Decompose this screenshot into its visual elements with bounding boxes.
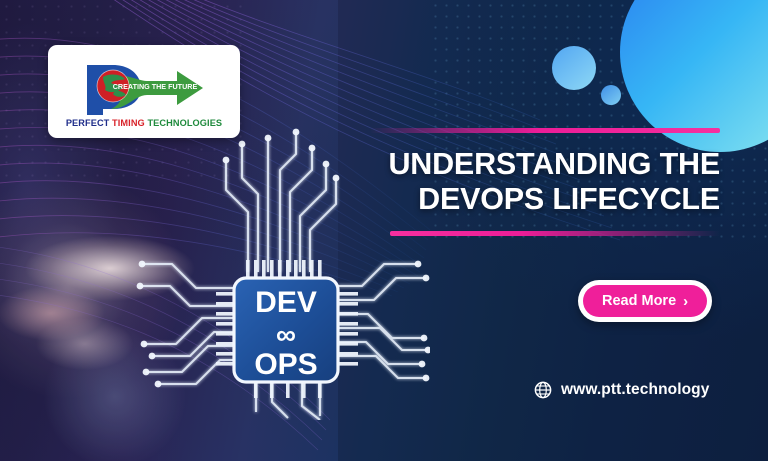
headline-rule-bottom [390, 231, 720, 236]
headline-line-1: UNDERSTANDING THE [368, 147, 720, 182]
website-url[interactable]: www.ptt.technology [561, 381, 709, 399]
read-more-button[interactable]: Read More › [583, 285, 707, 317]
website-row[interactable]: www.ptt.technology [534, 381, 709, 399]
company-logo-card: CREATING THE FUTURE PERFECT TIMING TECHN… [48, 45, 240, 138]
logo-name-word-2: TIMING [112, 118, 147, 128]
logo-company-name: PERFECT TIMING TECHNOLOGIES [66, 118, 222, 128]
logo-name-word-1: PERFECT [66, 118, 112, 128]
headline-block: UNDERSTANDING THE DEVOPS LIFECYCLE [368, 128, 720, 236]
read-more-label: Read More [602, 293, 676, 309]
logo-mark: CREATING THE FUTURE [69, 59, 219, 117]
globe-icon [534, 381, 552, 399]
chip-label-infinity: ∞ [276, 319, 296, 350]
devops-promo-banner: DEV ∞ OPS CREATING THE FUTURE PERFECT TI… [0, 0, 768, 461]
logo-name-word-3: TECHNOLOGIES [147, 118, 222, 128]
chevron-right-icon: › [683, 294, 688, 309]
headline-line-2: DEVOPS LIFECYCLE [368, 182, 720, 217]
read-more-button-ring: Read More › [578, 280, 712, 322]
chip-label-ops: OPS [254, 348, 317, 381]
logo-tagline: CREATING THE FUTURE [113, 82, 198, 91]
chip-label-dev: DEV [255, 286, 317, 319]
decorative-circle-small [601, 85, 621, 105]
decorative-circle-medium [552, 46, 596, 90]
headline-rule-top [370, 128, 720, 133]
